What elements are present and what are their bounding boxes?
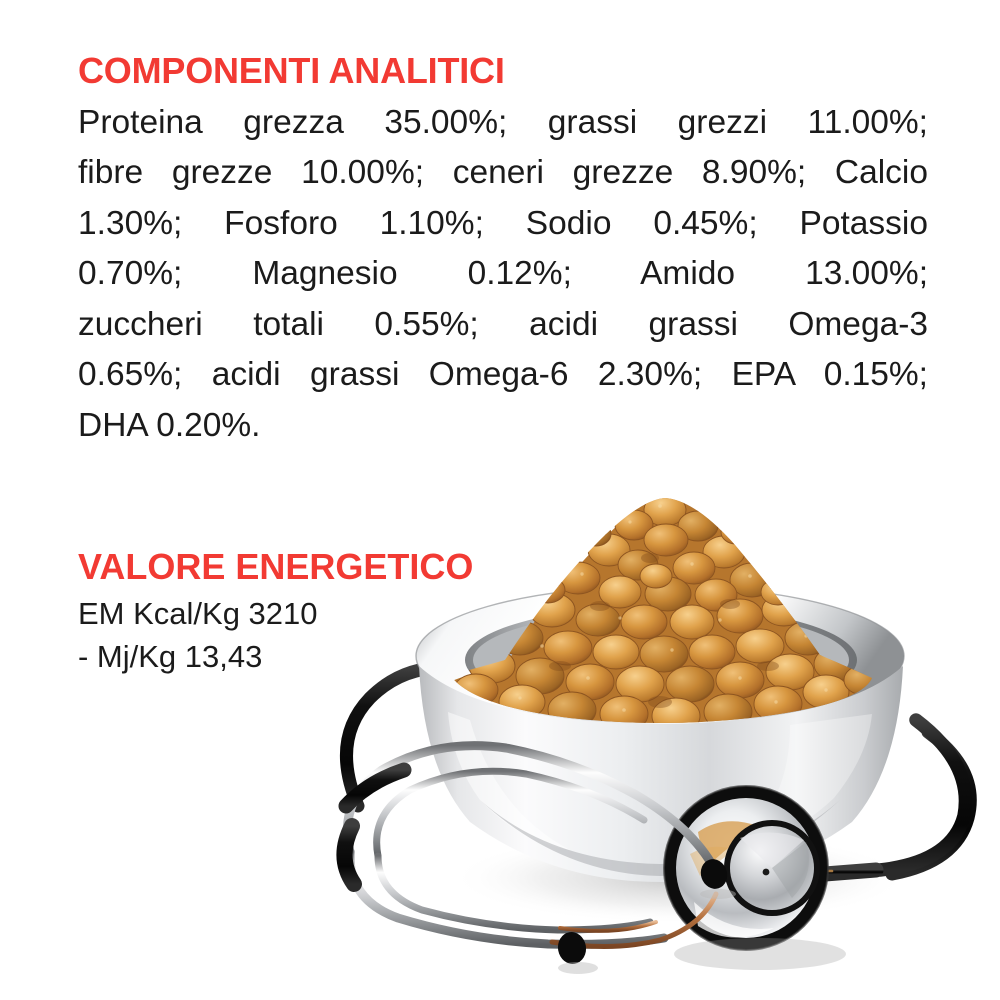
analytical-line: 1.30%; Fosforo 1.10%; Sodio 0.45%; Potas… bbox=[78, 199, 928, 250]
analytical-line: DHA 0.20%. bbox=[78, 401, 928, 452]
analytical-line: 0.70%; Magnesio 0.12%; Amido 13.00%; bbox=[78, 249, 928, 300]
analytical-line: fibre grezze 10.00%; ceneri grezze 8.90%… bbox=[78, 148, 928, 199]
energy-kcal-line: EM Kcal/Kg 3210 bbox=[78, 592, 638, 635]
analytical-heading: COMPONENTI ANALITICI bbox=[78, 52, 928, 90]
analytical-constituents-section: COMPONENTI ANALITICI Proteina grezza 35.… bbox=[78, 52, 928, 451]
energy-value-section: VALORE ENERGETICO EM Kcal/Kg 3210 - Mj/K… bbox=[78, 548, 638, 678]
energy-mj-line: - Mj/Kg 13,43 bbox=[78, 635, 638, 678]
stethoscope-tube-right bbox=[880, 720, 965, 870]
analytical-line: Proteina grezza 35.00%; grassi grezzi 11… bbox=[78, 98, 928, 149]
diaphragm-center-hole bbox=[763, 869, 770, 876]
energy-heading: VALORE ENERGETICO bbox=[78, 548, 638, 586]
analytical-line: 0.65%; acidi grassi Omega-6 2.30%; EPA 0… bbox=[78, 350, 928, 401]
analytical-line: zuccheri totali 0.55%; acidi grassi Omeg… bbox=[78, 300, 928, 351]
stethoscope-earpiece-lower bbox=[555, 930, 588, 966]
chest-piece-shadow bbox=[674, 938, 846, 970]
poster-canvas: COMPONENTI ANALITICI Proteina grezza 35.… bbox=[0, 0, 1000, 1000]
analytical-paragraph: Proteina grezza 35.00%; grassi grezzi 11… bbox=[78, 98, 928, 452]
